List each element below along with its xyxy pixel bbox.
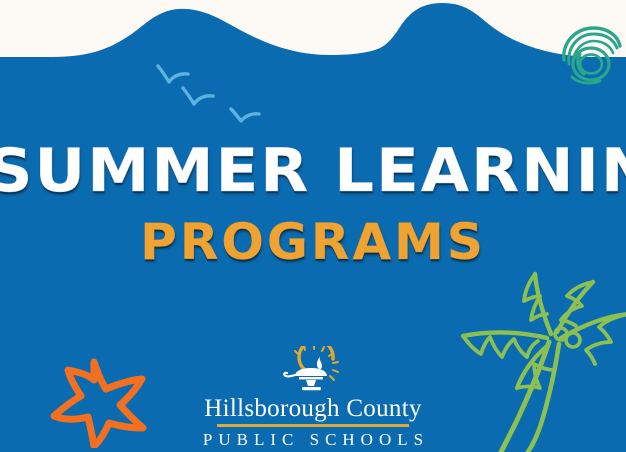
summer-learning-poster: SUMMER LEARNING PROGRAMS <box>0 0 626 452</box>
district-logo: Hillsborough County PUBLIC SCHOOLS <box>0 346 626 450</box>
district-name: Hillsborough County <box>0 394 626 423</box>
logo-divider <box>217 424 409 427</box>
page-subtitle: PROGRAMS <box>0 216 626 268</box>
page-title: SUMMER LEARNING <box>0 140 626 202</box>
wave-curl-icon <box>558 20 622 88</box>
headline-block: SUMMER LEARNING PROGRAMS <box>0 140 626 268</box>
lamp-of-knowledge-icon <box>277 346 349 392</box>
birds-icon <box>155 62 280 124</box>
wave-band <box>0 0 626 80</box>
district-tagline: PUBLIC SCHOOLS <box>0 430 626 450</box>
